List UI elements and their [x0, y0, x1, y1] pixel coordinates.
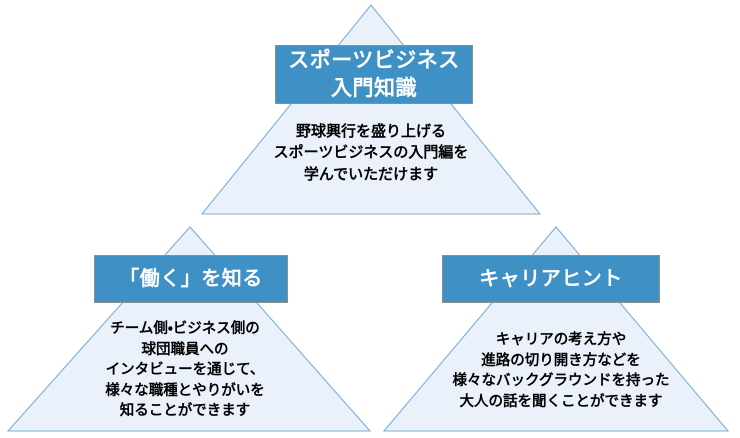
node-title-bottom-right: キャリアヒント [442, 255, 660, 303]
node-body-bottom-left: チーム側・ビジネス側の 球団職員への インタビューを通じて、 様々な職種とやりが… [30, 319, 340, 422]
node-body-top: 野球興行を盛り上げる スポーツビジネスの入門編を 学んでいただけます [216, 121, 526, 185]
node-title-top: スポーツビジネス 入門知識 [275, 45, 473, 104]
node-body-bottom-right: キャリアの考え方や 進路の切り開き方などを 様々なバックグラウンドを持った 大人… [406, 330, 716, 412]
node-title-bottom-left: 「働く」を知る [94, 255, 288, 303]
diagram-canvas: スポーツビジネス 入門知識 野球興行を盛り上げる スポーツビジネスの入門編を 学… [0, 0, 740, 438]
